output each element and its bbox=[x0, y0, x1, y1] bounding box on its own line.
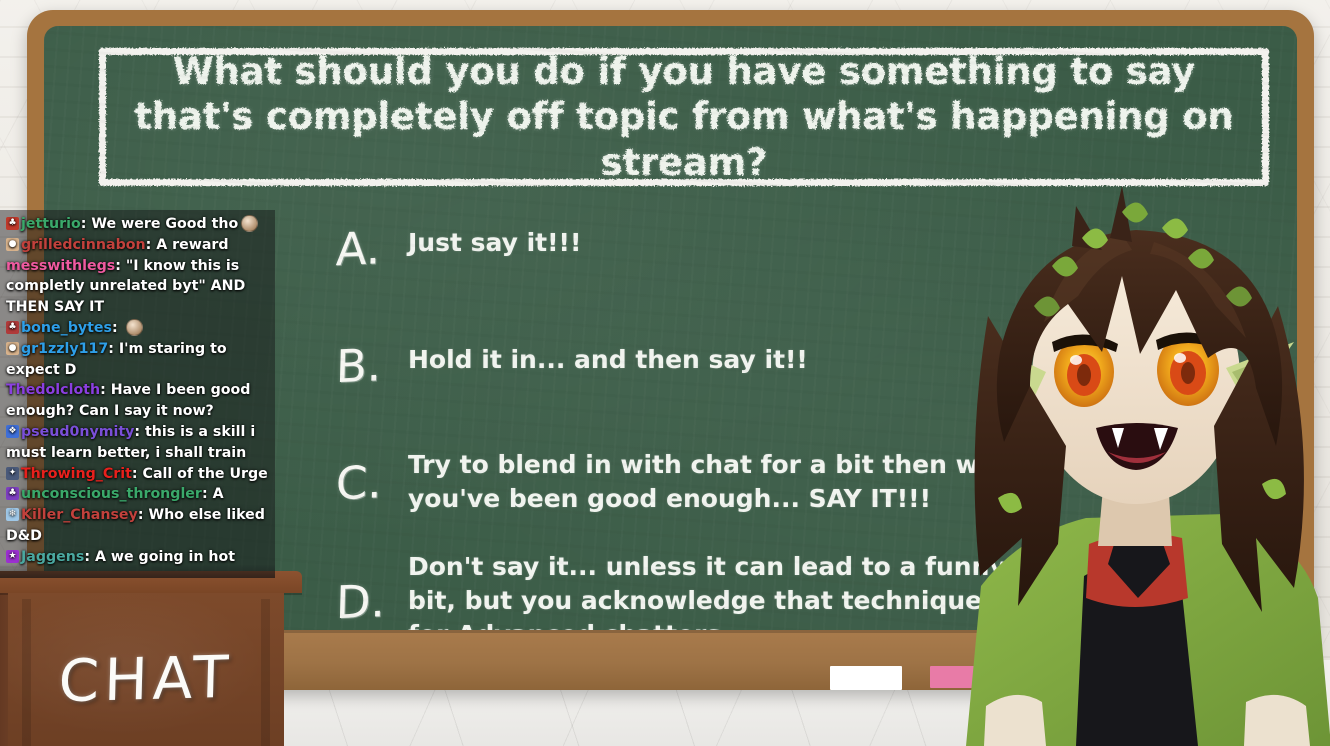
cake-badge-icon: ● bbox=[6, 342, 19, 355]
chat-message: ♣unconscious_throngler: A bbox=[6, 484, 269, 505]
answer-letter: D. bbox=[335, 577, 392, 624]
chat-colon: : bbox=[138, 507, 149, 523]
podium-chat-label: CHAT bbox=[0, 641, 303, 717]
star-badge-icon: ★ bbox=[6, 550, 19, 563]
chat-message-text: Call of the Urge bbox=[143, 466, 268, 482]
answer-letter: A. bbox=[335, 225, 392, 272]
snow-badge-icon: ❄ bbox=[6, 508, 19, 521]
chat-colon: : bbox=[84, 549, 95, 565]
chat-message: ❖pseud0nymity: this is a skill i must le… bbox=[6, 422, 269, 464]
sub-badge-icon: ♣ bbox=[6, 487, 19, 500]
chat-username[interactable]: Jaggens bbox=[21, 549, 84, 565]
answer-text: Just say it!!! bbox=[408, 226, 581, 260]
chat-username[interactable]: messwithlegs bbox=[6, 258, 115, 274]
chat-colon: : bbox=[132, 466, 143, 482]
chat-username[interactable]: Thedolcloth bbox=[6, 382, 100, 398]
chat-colon: : bbox=[202, 486, 213, 502]
chat-colon: : bbox=[134, 424, 145, 440]
chat-colon: : bbox=[146, 237, 157, 253]
chat-username[interactable]: gr1zzly117 bbox=[21, 341, 108, 357]
answer-option: D.Don't say it... unless it can lead to … bbox=[336, 550, 1283, 630]
cake-badge-icon: ● bbox=[6, 238, 19, 251]
question-text: What should you do if you have something… bbox=[106, 49, 1262, 184]
chat-podium: CHAT bbox=[0, 571, 302, 746]
answer-list: A.Just say it!!!B.Hold it in... and then… bbox=[336, 222, 1283, 612]
answer-letter: B. bbox=[335, 342, 392, 389]
chat-message-text: A bbox=[213, 486, 224, 502]
chat-message: ●grilledcinnabon: A reward bbox=[6, 235, 269, 256]
chat-message: ✦Throwing_Crit: Call of the Urge bbox=[6, 464, 269, 485]
chat-colon: : bbox=[100, 382, 111, 398]
chat-message: ●gr1zzly117: I'm staring to expect D bbox=[6, 339, 269, 381]
chat-colon: : bbox=[108, 341, 119, 357]
chat-message-list: ♣jetturio: We were Good tho●grilledcinna… bbox=[6, 214, 269, 568]
chat-username[interactable]: Throwing_Crit bbox=[21, 466, 132, 482]
chat-message-text: A we going in hot bbox=[95, 549, 235, 565]
sub-badge-icon: ♣ bbox=[6, 217, 19, 230]
chat-username[interactable]: bone_bytes bbox=[21, 320, 112, 336]
chat-message: messwithlegs: "I know this is completly … bbox=[6, 256, 269, 318]
chat-message-text: We were Good tho bbox=[91, 216, 238, 232]
chat-message: ❄Killer_Chansey: Who else liked D&D bbox=[6, 505, 269, 547]
sub-badge-icon: ♣ bbox=[6, 321, 19, 334]
bald-man-emote-icon bbox=[126, 319, 143, 336]
answer-text: Don't say it... unless it can lead to a … bbox=[408, 550, 1043, 630]
smug-face-emote-icon bbox=[241, 215, 258, 232]
chat-colon: : bbox=[81, 216, 92, 232]
chat-colon: : bbox=[112, 320, 123, 336]
chat-message-text: A reward bbox=[156, 237, 228, 253]
answer-text: Try to blend in with chat for a bit then… bbox=[408, 448, 1043, 516]
stream-scene: What should you do if you have something… bbox=[0, 0, 1330, 746]
chat-username[interactable]: grilledcinnabon bbox=[21, 237, 146, 253]
chat-username[interactable]: pseud0nymity bbox=[21, 424, 134, 440]
gift-badge-icon: ❖ bbox=[6, 425, 19, 438]
chat-username[interactable]: Killer_Chansey bbox=[21, 507, 138, 523]
eraser-icon bbox=[930, 666, 1005, 688]
chat-message: ♣jetturio: We were Good tho bbox=[6, 214, 269, 235]
answer-option: A.Just say it!!! bbox=[336, 226, 1283, 271]
ledge-items bbox=[802, 660, 1032, 690]
chat-username[interactable]: unconscious_throngler bbox=[21, 486, 202, 502]
answer-text: Hold it in... and then say it!! bbox=[408, 343, 808, 377]
chat-message: Thedolcloth: Have I been good enough? Ca… bbox=[6, 380, 269, 422]
mod-badge-icon: ✦ bbox=[6, 467, 19, 480]
chat-username[interactable]: jetturio bbox=[21, 216, 81, 232]
question-chalk-box: What should you do if you have something… bbox=[99, 48, 1269, 186]
chalk-stick-icon bbox=[830, 666, 902, 690]
answer-option: B.Hold it in... and then say it!! bbox=[336, 343, 1283, 388]
chat-message: ★Jaggens: A we going in hot bbox=[6, 547, 269, 568]
chat-overlay[interactable]: ♣jetturio: We were Good tho●grilledcinna… bbox=[0, 210, 275, 578]
answer-letter: C. bbox=[335, 458, 392, 505]
chat-message: ♣bone_bytes: bbox=[6, 318, 269, 339]
chat-colon: : bbox=[115, 258, 126, 274]
answer-option: C.Try to blend in with chat for a bit th… bbox=[336, 448, 1283, 516]
